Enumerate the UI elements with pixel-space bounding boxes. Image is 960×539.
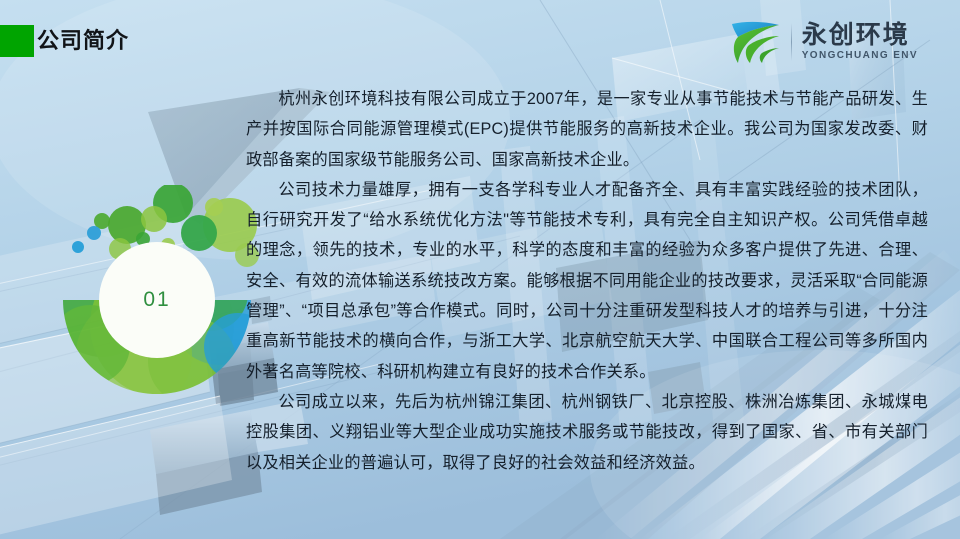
- body-copy: 杭州永创环境科技有限公司成立于2007年，是一家专业从事节能技术与节能产品研发、…: [246, 84, 928, 478]
- logo-english-name: YONGCHUANG ENV: [802, 50, 918, 62]
- paragraph-3: 公司成立以来，先后为杭州锦江集团、杭州钢铁厂、北京控股、株洲冶炼集团、永城煤电控…: [246, 387, 928, 478]
- paragraph-2: 公司技术力量雄厚，拥有一支各学科专业人才配备齐全、具有丰富实践经验的技术团队，自…: [246, 175, 928, 387]
- logo-chinese-name: 永创环境: [802, 22, 918, 49]
- logo-wordmark: 永创环境 YONGCHUANG ENV: [802, 22, 918, 62]
- company-logo: 永创环境 YONGCHUANG ENV: [729, 17, 918, 67]
- section-accent-chip: [0, 25, 34, 57]
- presentation-slide: 公司简介: [0, 0, 960, 539]
- section-number-badge: 01: [42, 185, 272, 415]
- logo-divider: [791, 23, 792, 61]
- slide-header: 公司简介: [0, 0, 960, 82]
- page-title: 公司简介: [37, 26, 129, 56]
- yongchuang-leaf-logo-icon: [729, 19, 785, 65]
- paragraph-1: 杭州永创环境科技有限公司成立于2007年，是一家专业从事节能技术与节能产品研发、…: [246, 84, 928, 175]
- section-number-label: 01: [42, 185, 272, 415]
